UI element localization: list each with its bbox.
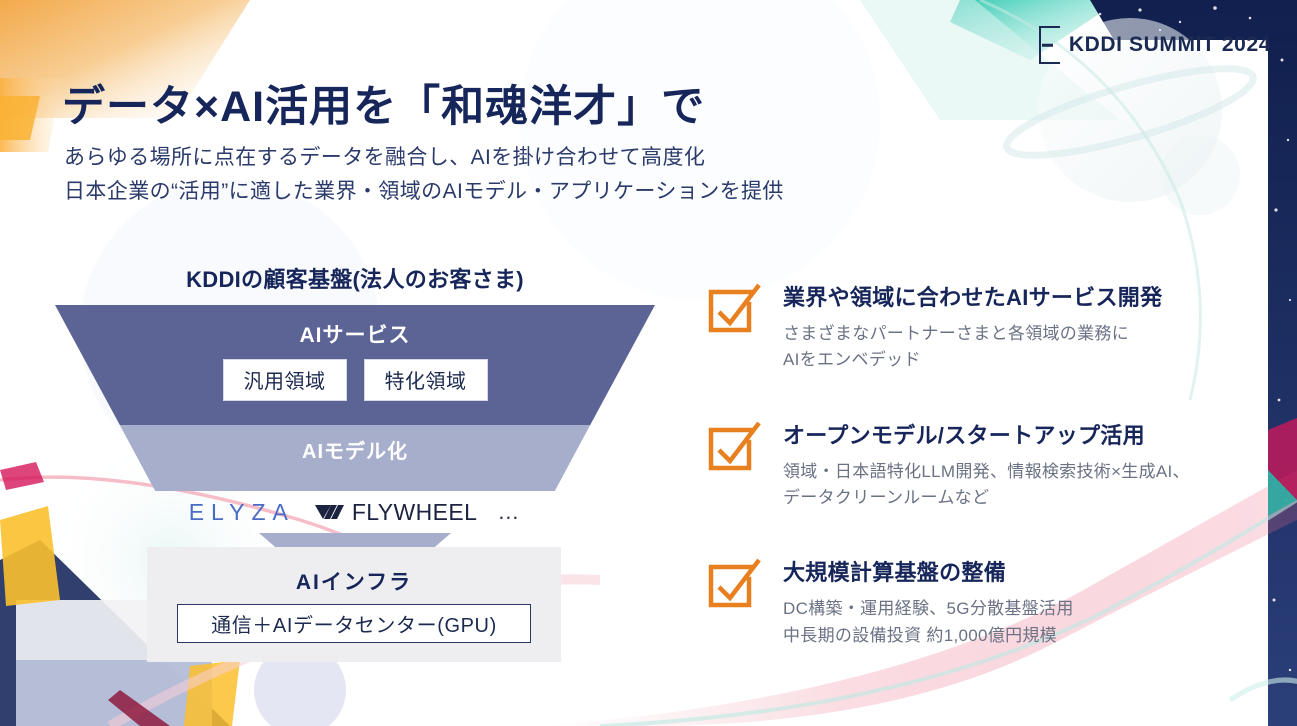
feature-desc-line-1: DC構築・運用経験、5G分散基盤活用 (783, 596, 1074, 622)
partner-logo-strip: ELYZA FLYWHEEL … (55, 491, 655, 533)
feature-desc-line-1: 領域・日本語特化LLM開発、情報検索技術×生成AI、 (783, 459, 1190, 485)
summit-logo-text: KDDI SUMMIT 2024 (1069, 33, 1271, 57)
feature-desc-line-2: AIをエンベデッド (783, 347, 1162, 373)
subtitle-line-2: 日本企業の“活用”に適した業界・領域のAIモデル・アプリケーションを提供 (64, 175, 784, 205)
slide-root: KDDI SUMMIT 2024 データ×AI活用を「和魂洋才」で あらゆる場所… (0, 0, 1297, 726)
kddi-summit-logo: KDDI SUMMIT 2024 (1039, 26, 1271, 64)
feature-desc-line-1: さまざまなパートナーさまと各領域の業務に (783, 321, 1162, 347)
ai-infra-box-label: 通信＋AIデータセンター(GPU) (211, 609, 497, 638)
funnel-diagram: KDDIの顧客基盤(法人のお客さま) AIサービス 汎用領域 特化領域 AIモデ… (55, 262, 675, 682)
funnel-stage-ai-service-label: AIサービス (55, 319, 655, 349)
chip-general-domain: 汎用領域 (223, 359, 347, 401)
flywheel-mark-icon (315, 503, 345, 521)
feature-desc-line-2: 中長期の設備投資 約1,000億円規模 (783, 623, 1074, 649)
feature-list: 業界や領域に合わせたAIサービス開発 さまざまなパートナーさまと各領域の業務に … (705, 278, 1265, 691)
partner-more-ellipsis: … (497, 499, 521, 525)
subtitle-line-1: あらゆる場所に点在するデータを融合し、AIを掛け合わせて高度化 (64, 141, 705, 171)
summit-bracket-icon (1039, 26, 1060, 64)
check-square-icon (705, 280, 761, 336)
feature-item: 業界や領域に合わせたAIサービス開発 さまざまなパートナーさまと各領域の業務に … (705, 278, 1265, 374)
ai-infra-box: 通信＋AIデータセンター(GPU) (177, 604, 531, 643)
feature-title: オープンモデル/スタートアップ活用 (783, 418, 1190, 450)
funnel-title: KDDIの顧客基盤(法人のお客さま) (55, 262, 655, 294)
feature-text-block: 業界や領域に合わせたAIサービス開発 さまざまなパートナーさまと各領域の業務に … (783, 278, 1162, 374)
feature-text-block: オープンモデル/スタートアップ活用 領域・日本語特化LLM開発、情報検索技術×生… (783, 416, 1190, 512)
feature-item: 大規模計算基盤の整備 DC構築・運用経験、5G分散基盤活用 中長期の設備投資 約… (705, 553, 1265, 649)
flywheel-logo-text: FLYWHEEL (352, 499, 477, 526)
check-square-icon (705, 555, 761, 611)
check-square-icon (705, 418, 761, 474)
feature-item: オープンモデル/スタートアップ活用 領域・日本語特化LLM開発、情報検索技術×生… (705, 416, 1265, 512)
feature-text-block: 大規模計算基盤の整備 DC構築・運用経験、5G分散基盤活用 中長期の設備投資 約… (783, 553, 1074, 649)
flywheel-logo: FLYWHEEL (315, 499, 477, 526)
ai-infra-panel: AIインフラ 通信＋AIデータセンター(GPU) (147, 547, 561, 662)
ai-infra-title: AIインフラ (147, 566, 561, 596)
feature-title: 業界や領域に合わせたAIサービス開発 (783, 280, 1162, 312)
ai-service-chip-row: 汎用領域 特化領域 (55, 359, 655, 401)
chip-specialized-domain: 特化領域 (364, 359, 488, 401)
funnel-stage-ai-model: AIモデル化 (55, 425, 655, 491)
funnel-stage-ai-model-label: AIモデル化 (55, 435, 655, 464)
page-title: データ×AI活用を「和魂洋才」で (62, 72, 705, 134)
feature-desc-line-2: データクリーンルームなど (783, 485, 1190, 511)
elyza-logo: ELYZA (189, 499, 295, 526)
feature-title: 大規模計算基盤の整備 (783, 555, 1074, 587)
